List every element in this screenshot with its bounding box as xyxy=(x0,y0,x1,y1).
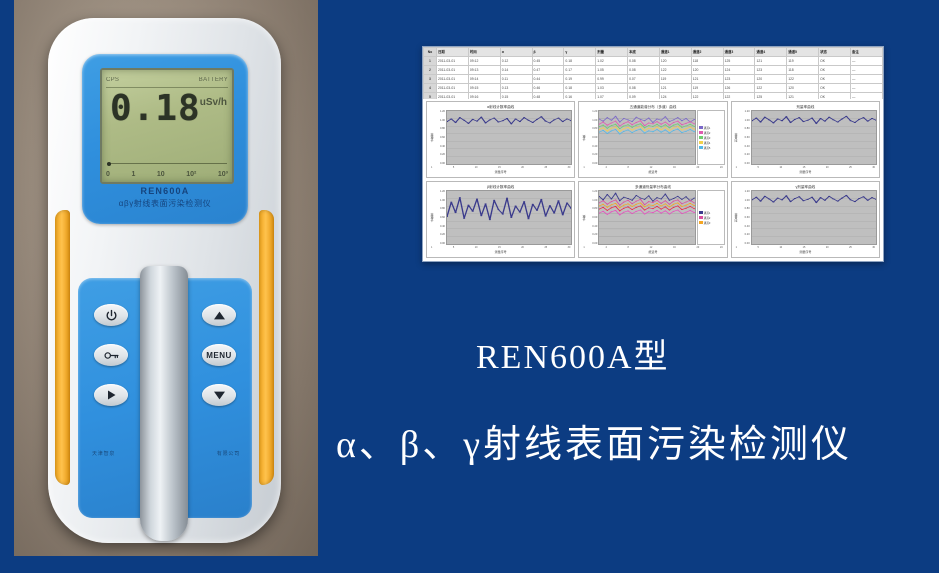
chart-y-tick: 1.20 xyxy=(586,190,597,193)
chart-plot-area: 计数率1.201.000.800.600.400.200.00 xyxy=(429,190,572,245)
table-cell: 0.08 xyxy=(628,66,660,75)
table-cell: 119 xyxy=(691,84,723,93)
table-cell: 0.14 xyxy=(500,66,532,75)
table-cell: 0.16 xyxy=(564,93,596,100)
chart-y-tick: 0.60 xyxy=(434,216,445,219)
chart-y-tick: 1.20 xyxy=(434,190,445,193)
chart-y-tick: 0.80 xyxy=(434,207,445,210)
chart-x-axis-label: 能道号 xyxy=(581,170,724,175)
lcd-status-left: CPS xyxy=(106,77,119,83)
table-cell: 121 xyxy=(691,75,723,84)
device-handle-strip xyxy=(140,266,188,541)
device-label-block: REN600A αβγ射线表面污染检测仪 xyxy=(82,186,248,209)
table-cell: 5 xyxy=(424,93,437,100)
chart-y-tick: 0.60 xyxy=(586,136,597,139)
table-cell: 2 xyxy=(424,66,437,75)
chart-y-tick: 1.00 xyxy=(434,199,445,202)
table-cell: 121 xyxy=(659,84,691,93)
table-col-header: 备注 xyxy=(850,48,882,57)
device-chinese-label: αβγ射线表面污染检测仪 xyxy=(82,198,248,209)
chart-y-tick: 0.40 xyxy=(739,225,750,228)
legend-entry: 通道3 xyxy=(699,136,723,140)
chart-y-tick: 0.40 xyxy=(739,145,750,148)
legend-swatch xyxy=(699,216,703,219)
chart-plot-area: 计数率1.201.000.800.600.400.200.00 xyxy=(429,110,572,165)
table-cell: 122 xyxy=(787,75,819,84)
table-cell: 124 xyxy=(723,66,755,75)
table-cell: 0.11 xyxy=(500,75,532,84)
table-cell: 0.09 xyxy=(628,93,660,100)
table-cell: 119 xyxy=(659,75,691,84)
table-cell: — xyxy=(850,57,882,66)
table-cell: 09:15 xyxy=(468,84,500,93)
legend-entry: 通道1 xyxy=(699,126,723,130)
table-col-header: 状态 xyxy=(819,48,851,57)
legend-swatch xyxy=(699,136,703,139)
chart-y-tick: 1.20 xyxy=(739,110,750,113)
legend-entry: 通道2 xyxy=(699,131,723,135)
chart-canvas xyxy=(751,190,877,245)
table-cell: 125 xyxy=(723,57,755,66)
chart-y-tick: 1.20 xyxy=(586,110,597,113)
chart-canvas xyxy=(751,110,877,165)
key-icon xyxy=(104,350,119,361)
table-cell: 122 xyxy=(755,84,787,93)
table-row[interactable]: 52011-03-0109:160.150.480.161.070.091241… xyxy=(424,93,883,100)
table-cell: 0.46 xyxy=(532,84,564,93)
table-cell: 0.13 xyxy=(500,84,532,93)
device-footer-left-text: 天津智泉 xyxy=(92,450,115,457)
up-button[interactable] xyxy=(202,304,236,326)
play-icon xyxy=(105,389,117,401)
page-subtitle: α、β、γ射线表面污染检测仪 xyxy=(336,413,852,468)
table-cell: 122 xyxy=(691,93,723,100)
chart-y-tick: 0.80 xyxy=(586,207,597,210)
table-cell: 118 xyxy=(787,66,819,75)
table-cell: OK xyxy=(819,66,851,75)
chart-y-tick: 0.60 xyxy=(434,136,445,139)
lcd-bargraph-line xyxy=(107,163,227,164)
legend-label: 通道3 xyxy=(704,221,711,225)
table-cell: 0.45 xyxy=(532,57,564,66)
table-row[interactable]: 42011-03-0109:150.130.460.181.030.081211… xyxy=(424,84,883,93)
table-cell: 0.19 xyxy=(564,75,596,84)
table-cell: 126 xyxy=(723,84,755,93)
chart-y-tick: 0.60 xyxy=(739,136,750,139)
chart-y-tick: 0.20 xyxy=(739,153,750,156)
device-front-upper-panel: CPS BATTERY 0.18 uSv/h 0 1 10 10² 10³ xyxy=(82,54,248,224)
table-cell: 2011-03-01 xyxy=(437,66,469,75)
chart-y-tick: 1.20 xyxy=(434,110,445,113)
chart-x-axis-label: 测量序号 xyxy=(734,170,877,175)
device-model-label: REN600A xyxy=(82,186,248,196)
chart-y-ticks: 1.201.000.800.600.400.200.00 xyxy=(586,110,598,165)
table-cell: 123 xyxy=(723,75,755,84)
chart-y-tick: 0.80 xyxy=(434,127,445,130)
table-cell: 3 xyxy=(424,75,437,84)
chart-y-ticks: 1.201.000.800.600.400.200.00 xyxy=(739,110,751,165)
chart-plot-area: 计数1.201.000.800.600.400.200.00通道1通道2通道3 xyxy=(581,190,724,245)
table-col-header: 通道5 xyxy=(787,48,819,57)
chart-y-tick: 1.00 xyxy=(434,119,445,122)
device-footer-right-text: 有限公司 xyxy=(217,450,240,457)
table-cell: 0.48 xyxy=(532,93,564,100)
table-cell: 09:14 xyxy=(468,75,500,84)
lcd-scale-tick-4: 10³ xyxy=(218,171,228,178)
data-table: No日期时间αβγ剂量本底通道1通道2通道3通道4通道5状态备注 12011-0… xyxy=(423,47,883,99)
table-col-header: 通道1 xyxy=(659,48,691,57)
lcd-scale-tick-2: 10 xyxy=(157,171,165,178)
play-button[interactable] xyxy=(94,384,128,406)
power-icon xyxy=(105,309,118,322)
table-cell: 121 xyxy=(755,57,787,66)
lcd-scale-tick-0: 0 xyxy=(106,171,110,178)
slide-canvas: CPS BATTERY 0.18 uSv/h 0 1 10 10² 10³ xyxy=(0,0,939,573)
legend-label: 通道1 xyxy=(704,211,711,215)
table-cell: 1 xyxy=(424,57,437,66)
chart-x-axis-label: 测量序号 xyxy=(429,170,572,175)
table-col-header: 日期 xyxy=(437,48,469,57)
table-col-header: No xyxy=(424,48,437,57)
chart-y-tick: 0.40 xyxy=(434,145,445,148)
table-cell: 120 xyxy=(659,57,691,66)
legend-entry: 通道5 xyxy=(699,146,723,150)
legend-swatch xyxy=(699,141,703,144)
table-cell: 0.12 xyxy=(500,57,532,66)
table-cell: 09:16 xyxy=(468,93,500,100)
table-cell: 0.08 xyxy=(628,84,660,93)
chart-y-tick: 0.60 xyxy=(739,216,750,219)
chart-y-tick: 1.00 xyxy=(739,119,750,122)
chart-y-tick: 0.20 xyxy=(434,233,445,236)
software-screenshot: No日期时间αβγ剂量本底通道1通道2通道3通道4通道5状态备注 12011-0… xyxy=(422,46,884,262)
key-lock-button[interactable] xyxy=(94,344,128,366)
table-cell: 0.99 xyxy=(596,75,628,84)
lcd-reading-value: 0.18 xyxy=(110,91,201,127)
table-cell: 120 xyxy=(691,66,723,75)
legend-entry: 通道2 xyxy=(699,216,723,220)
table-cell: 1.02 xyxy=(596,57,628,66)
table-col-header: 通道3 xyxy=(723,48,755,57)
menu-button[interactable]: MENU xyxy=(202,344,236,366)
table-cell: 4 xyxy=(424,84,437,93)
chart-plot-area: 计数1.201.000.800.600.400.200.00通道1通道2通道3通… xyxy=(581,110,724,165)
data-table-grid: No日期时间αβγ剂量本底通道1通道2通道3通道4通道5状态备注 12011-0… xyxy=(423,47,883,99)
legend-label: 通道3 xyxy=(704,136,711,140)
down-button[interactable] xyxy=(202,384,236,406)
chart-y-ticks: 1.201.000.800.600.400.200.00 xyxy=(586,190,598,245)
lcd-bargraph-marker xyxy=(107,162,111,166)
table-cell: 1.05 xyxy=(596,66,628,75)
table-cell: 1.03 xyxy=(596,84,628,93)
table-header-row: No日期时间αβγ剂量本底通道1通道2通道3通道4通道5状态备注 xyxy=(424,48,883,57)
table-col-header: β xyxy=(532,48,564,57)
table-cell: 0.18 xyxy=(564,57,596,66)
legend-swatch xyxy=(699,146,703,149)
table-col-header: α xyxy=(500,48,532,57)
chart-y-tick: 0.40 xyxy=(434,225,445,228)
chart-y-tick: 0.40 xyxy=(586,225,597,228)
table-cell: 120 xyxy=(755,75,787,84)
chart-y-tick: 1.20 xyxy=(739,190,750,193)
table-cell: 118 xyxy=(691,57,723,66)
table-cell: OK xyxy=(819,57,851,66)
legend-label: 通道4 xyxy=(704,141,711,145)
triangle-up-icon xyxy=(213,310,226,321)
chart-y-ticks: 1.201.000.800.600.400.200.00 xyxy=(434,110,446,165)
table-cell: 0.44 xyxy=(532,75,564,84)
table-row[interactable]: 32011-03-0109:140.110.440.190.990.071191… xyxy=(424,75,883,84)
table-col-header: 通道4 xyxy=(755,48,787,57)
chart-canvas xyxy=(446,190,572,245)
chart-card[interactable]: 多通道剂量率分布曲线计数1.201.000.800.600.400.200.00… xyxy=(578,181,727,258)
table-cell: 123 xyxy=(755,66,787,75)
chart-y-tick: 0.80 xyxy=(739,127,750,130)
table-cell: — xyxy=(850,93,882,100)
chart-y-tick: 0.20 xyxy=(586,153,597,156)
legend-swatch xyxy=(699,221,703,224)
table-cell: 0.47 xyxy=(532,66,564,75)
lcd-scale-tick-3: 10² xyxy=(186,171,196,178)
table-cell: 2011-03-01 xyxy=(437,75,469,84)
table-col-header: 本底 xyxy=(628,48,660,57)
table-cell: 2011-03-01 xyxy=(437,93,469,100)
table-cell: — xyxy=(850,66,882,75)
table-cell: 09:13 xyxy=(468,66,500,75)
grip-strip-left xyxy=(55,210,70,485)
chart-x-axis-label: 能道号 xyxy=(581,250,724,255)
lcd-display: CPS BATTERY 0.18 uSv/h 0 1 10 10² 10³ xyxy=(100,68,234,184)
table-row[interactable]: 22011-03-0109:130.140.470.171.050.081221… xyxy=(424,66,883,75)
lcd-reading-unit: uSv/h xyxy=(200,97,227,108)
table-cell: 0.18 xyxy=(564,84,596,93)
legend-entry: 通道3 xyxy=(699,221,723,225)
table-cell: 2011-03-01 xyxy=(437,84,469,93)
chart-y-tick: 1.00 xyxy=(739,199,750,202)
radiation-detector-device: CPS BATTERY 0.18 uSv/h 0 1 10 10² 10³ xyxy=(42,18,287,543)
table-cell: 2011-03-01 xyxy=(437,57,469,66)
table-col-header: γ xyxy=(564,48,596,57)
table-cell: OK xyxy=(819,93,851,100)
chart-y-tick: 0.80 xyxy=(739,207,750,210)
legend-entry: 通道1 xyxy=(699,211,723,215)
chart-y-tick: 0.20 xyxy=(586,233,597,236)
table-cell: 1.07 xyxy=(596,93,628,100)
chart-y-ticks: 1.201.000.800.600.400.200.00 xyxy=(739,190,751,245)
chart-x-axis-label: 测量序号 xyxy=(429,250,572,255)
chart-y-tick: 0.20 xyxy=(739,233,750,236)
table-cell: 09:12 xyxy=(468,57,500,66)
charts-grid: α射线计数率曲线计数率1.201.000.800.600.400.200.001… xyxy=(426,101,880,258)
page-title: REN600A型 xyxy=(476,329,670,378)
table-cell: 0.15 xyxy=(500,93,532,100)
table-cell: 0.08 xyxy=(628,57,660,66)
legend-swatch xyxy=(699,211,703,214)
table-cell: 0.17 xyxy=(564,66,596,75)
chart-y-tick: 0.80 xyxy=(586,127,597,130)
table-cell: 122 xyxy=(659,66,691,75)
legend-label: 通道2 xyxy=(704,216,711,220)
chart-plot-area: 剂量率1.201.000.800.600.400.200.00 xyxy=(734,190,877,245)
chart-canvas xyxy=(446,110,572,165)
chart-y-tick: 0.40 xyxy=(586,145,597,148)
power-button[interactable] xyxy=(94,304,128,326)
lcd-status-right: BATTERY xyxy=(199,77,228,83)
table-cell: 124 xyxy=(659,93,691,100)
chart-x-axis-label: 测量序号 xyxy=(734,250,877,255)
table-col-header: 剂量 xyxy=(596,48,628,57)
table-cell: 0.07 xyxy=(628,75,660,84)
chart-canvas xyxy=(598,110,695,165)
legend-label: 通道2 xyxy=(704,131,711,135)
legend-swatch xyxy=(699,126,703,129)
table-cell: 122 xyxy=(723,93,755,100)
lcd-scale-tick-1: 1 xyxy=(131,171,135,178)
table-cell: OK xyxy=(819,84,851,93)
chart-legend: 通道1通道2通道3 xyxy=(697,190,725,245)
table-cell: 121 xyxy=(787,93,819,100)
table-cell: — xyxy=(850,84,882,93)
table-cell: — xyxy=(850,75,882,84)
table-col-header: 通道2 xyxy=(691,48,723,57)
table-cell: 120 xyxy=(787,84,819,93)
chart-plot-area: 剂量率1.201.000.800.600.400.200.00 xyxy=(734,110,877,165)
chart-canvas xyxy=(598,190,695,245)
grip-strip-right xyxy=(259,210,274,485)
table-cell: 119 xyxy=(787,57,819,66)
chart-card[interactable]: 五通道能谱分布（多道）曲线计数1.201.000.800.600.400.200… xyxy=(578,101,727,178)
table-cell: OK xyxy=(819,75,851,84)
chart-card[interactable]: α射线计数率曲线计数率1.201.000.800.600.400.200.001… xyxy=(426,101,575,178)
chart-y-tick: 0.20 xyxy=(434,153,445,156)
chart-card[interactable]: β射线计数率曲线计数率1.201.000.800.600.400.200.001… xyxy=(426,181,575,258)
lcd-status-bar: CPS BATTERY xyxy=(106,73,228,86)
chart-y-ticks: 1.201.000.800.600.400.200.00 xyxy=(434,190,446,245)
table-row[interactable]: 12011-03-0109:120.120.450.181.020.081201… xyxy=(424,57,883,66)
product-photo: CPS BATTERY 0.18 uSv/h 0 1 10 10² 10³ xyxy=(14,0,318,556)
legend-entry: 通道4 xyxy=(699,141,723,145)
table-cell: 125 xyxy=(755,93,787,100)
legend-label: 通道1 xyxy=(704,126,711,130)
lcd-scale-row: 0 1 10 10² 10³ xyxy=(106,168,228,180)
chart-card[interactable]: γ剂量率曲线剂量率1.201.000.800.600.400.200.00151… xyxy=(731,181,880,258)
triangle-down-icon xyxy=(213,390,226,401)
chart-y-tick: 1.00 xyxy=(586,199,597,202)
legend-label: 通道5 xyxy=(704,146,711,150)
chart-y-tick: 0.60 xyxy=(586,216,597,219)
legend-swatch xyxy=(699,131,703,134)
chart-legend: 通道1通道2通道3通道4通道5 xyxy=(697,110,725,165)
table-col-header: 时间 xyxy=(468,48,500,57)
chart-y-tick: 1.00 xyxy=(586,119,597,122)
chart-card[interactable]: 剂量率曲线剂量率1.201.000.800.600.400.200.001510… xyxy=(731,101,880,178)
